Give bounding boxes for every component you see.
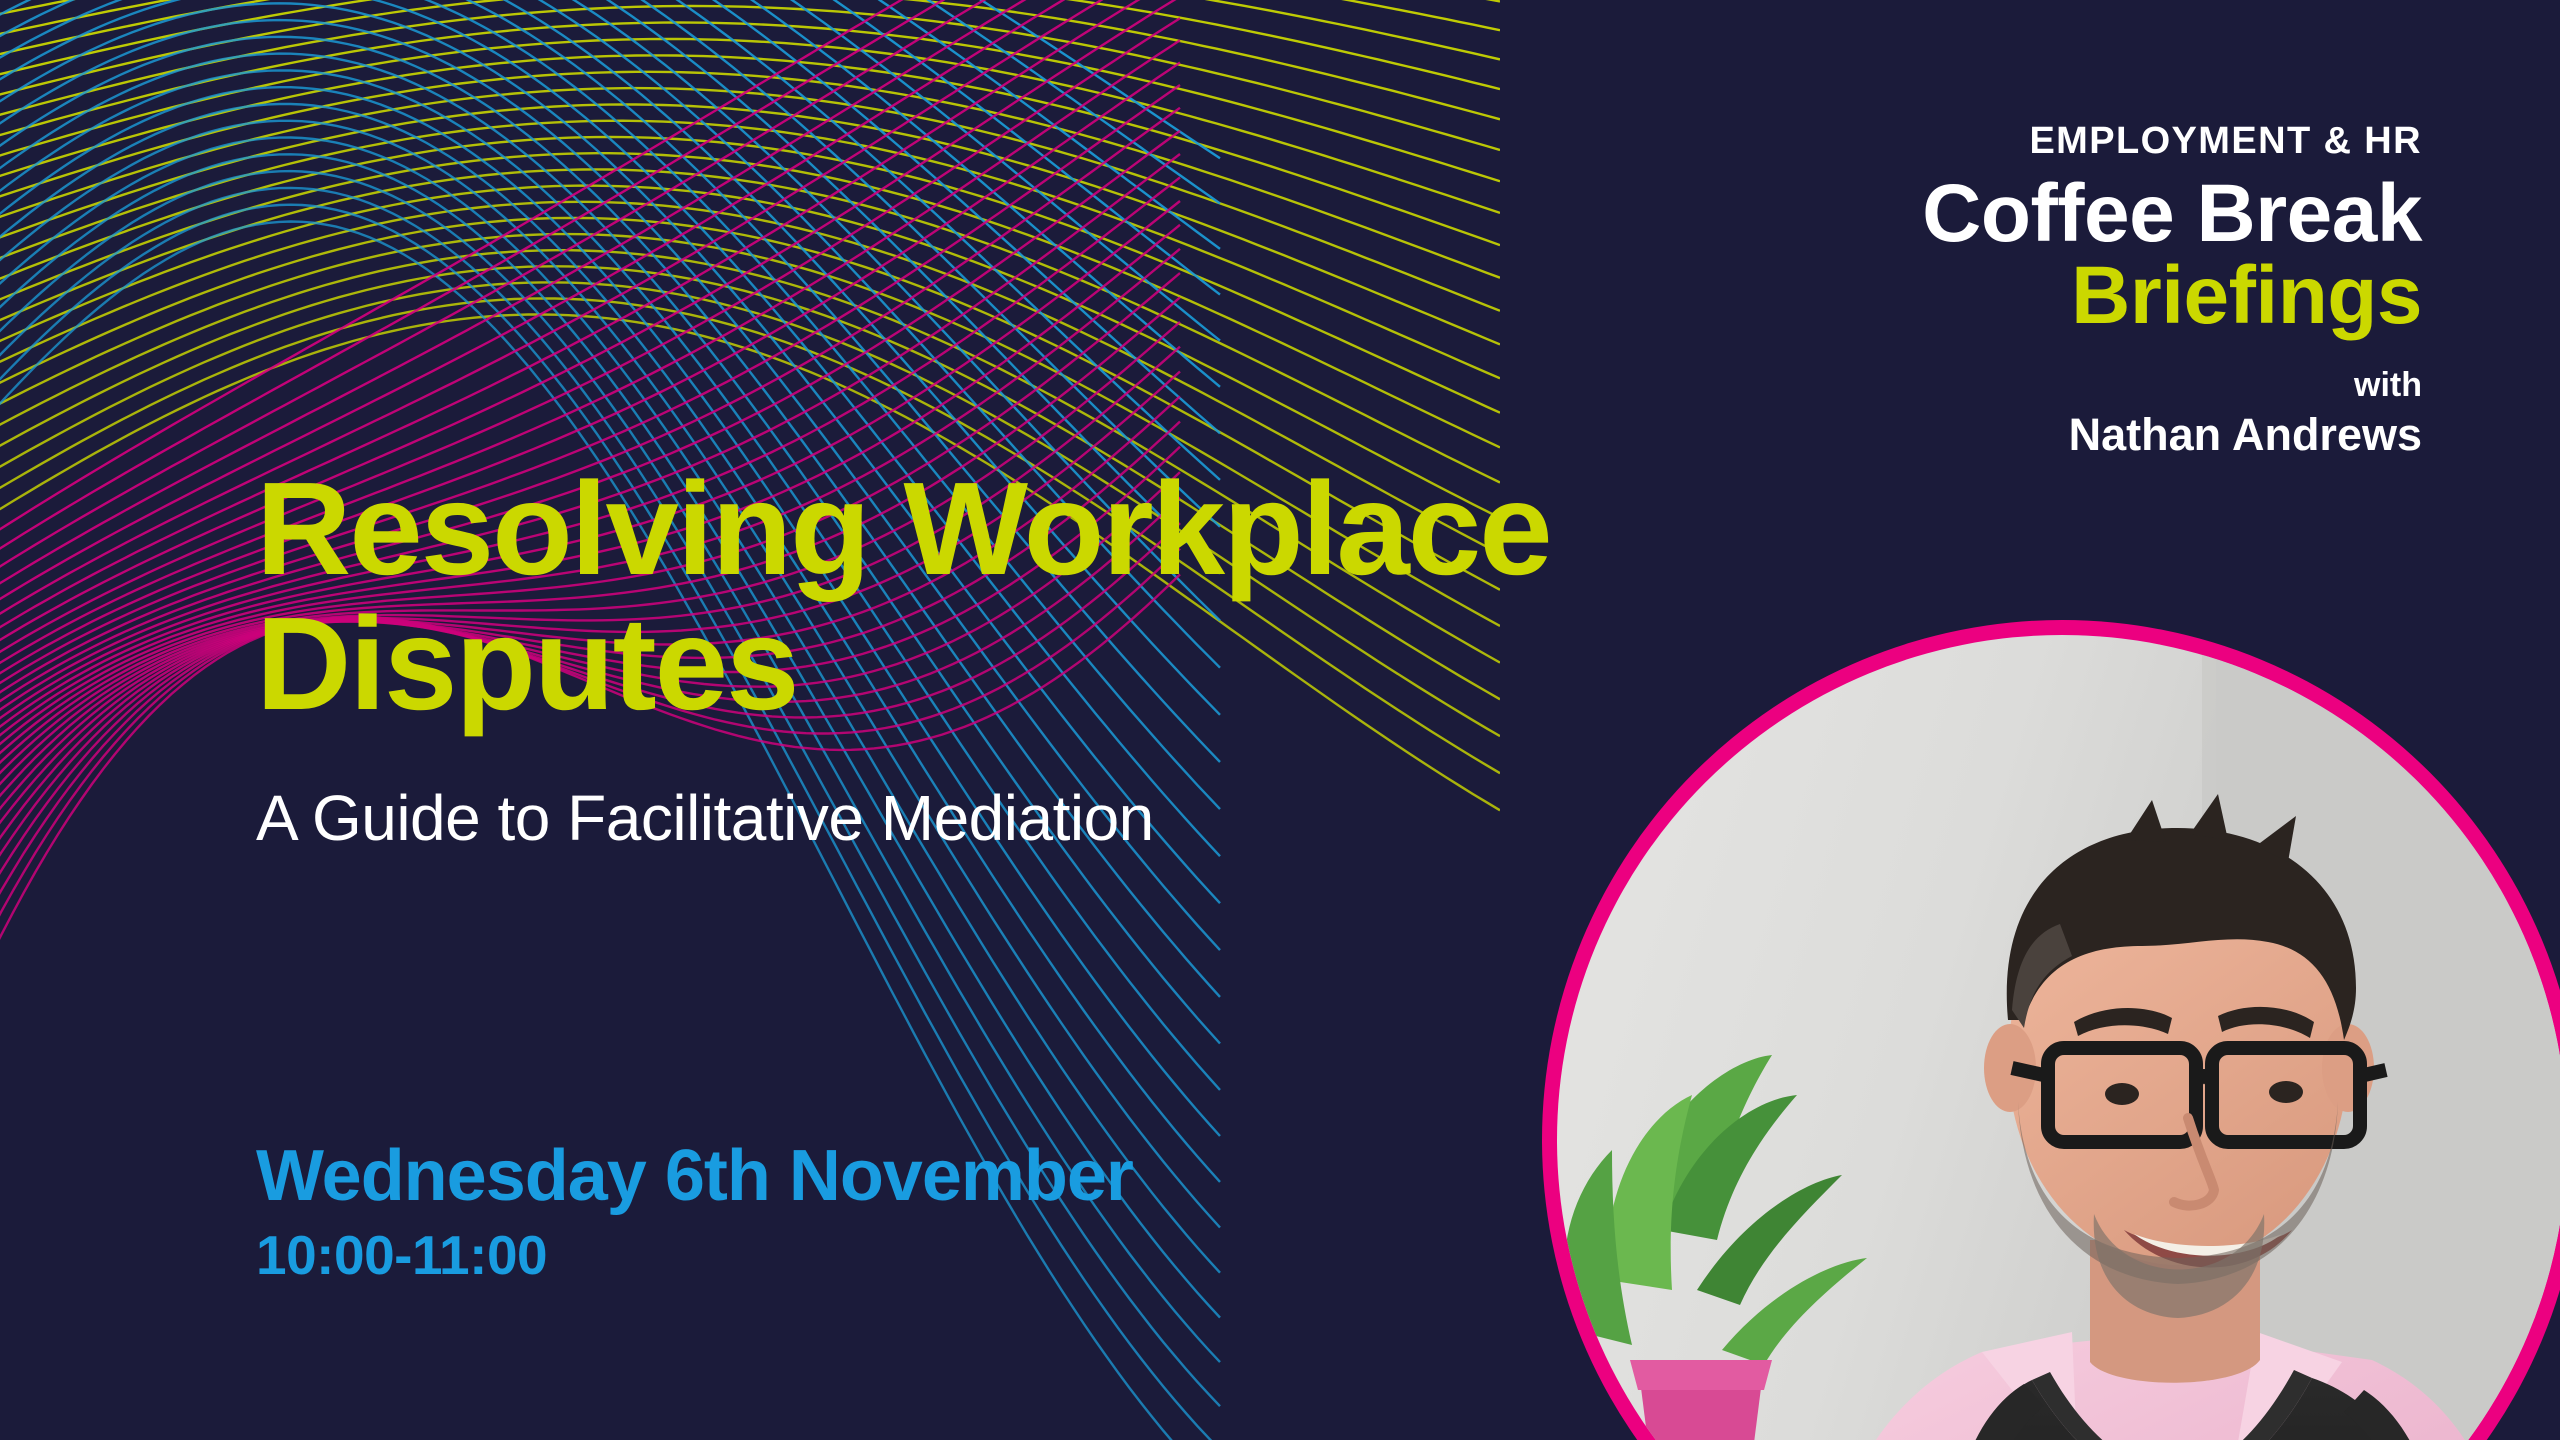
series-subtitle: Briefings xyxy=(1422,254,2422,338)
schedule-block: Wednesday 6th November 10:00-11:00 xyxy=(256,1140,1133,1283)
portrait-photo xyxy=(1512,590,2560,1440)
page-title: Resolving Workplace Disputes xyxy=(256,462,1706,731)
yellow-line xyxy=(0,88,1500,311)
cyan-line xyxy=(0,0,1220,433)
yellow-line xyxy=(0,0,1500,17)
yellow-line xyxy=(0,137,1500,413)
yellow-line xyxy=(0,72,1500,278)
yellow-line xyxy=(0,0,1500,104)
main-copy: Resolving Workplace Disputes A Guide to … xyxy=(256,462,1706,854)
with-label: with xyxy=(1422,368,2422,402)
cyan-line xyxy=(0,0,1220,387)
event-time: 10:00-11:00 xyxy=(256,1228,1133,1283)
presenter-portrait xyxy=(1512,590,2560,1440)
yellow-line xyxy=(0,153,1500,447)
cyan-line xyxy=(0,0,1220,527)
cyan-line xyxy=(0,0,1220,480)
yellow-line xyxy=(0,169,1500,482)
cyan-line xyxy=(0,0,1220,341)
cyan-line xyxy=(0,0,1220,158)
series-title: Coffee Break xyxy=(1422,174,2422,254)
page-subtitle: A Guide to Facilitative Mediation xyxy=(256,783,1706,853)
yellow-line xyxy=(0,121,1500,379)
yellow-line xyxy=(0,0,1500,39)
series-header: EMPLOYMENT & HR Coffee Break Briefings w… xyxy=(1422,122,2422,457)
cyan-line xyxy=(0,0,1220,204)
practice-area-eyebrow: EMPLOYMENT & HR xyxy=(1422,122,2422,160)
yellow-line xyxy=(0,55,1500,245)
yellow-line xyxy=(0,23,1500,182)
promo-banner: EMPLOYMENT & HR Coffee Break Briefings w… xyxy=(0,0,2560,1440)
presenter-name: Nathan Andrews xyxy=(1422,412,2422,457)
yellow-line xyxy=(0,0,1500,60)
yellow-line xyxy=(0,0,1500,126)
eye-left xyxy=(2105,1083,2139,1105)
cyan-line xyxy=(0,0,1220,249)
yellow-line xyxy=(0,0,1500,82)
cyan-line xyxy=(0,0,1220,295)
yellow-line xyxy=(0,6,1500,150)
yellow-line xyxy=(0,105,1500,345)
presenter-portrait-illustration xyxy=(1512,590,2560,1440)
event-date: Wednesday 6th November xyxy=(256,1140,1133,1212)
yellow-line xyxy=(0,39,1500,213)
eye-right xyxy=(2269,1081,2303,1103)
